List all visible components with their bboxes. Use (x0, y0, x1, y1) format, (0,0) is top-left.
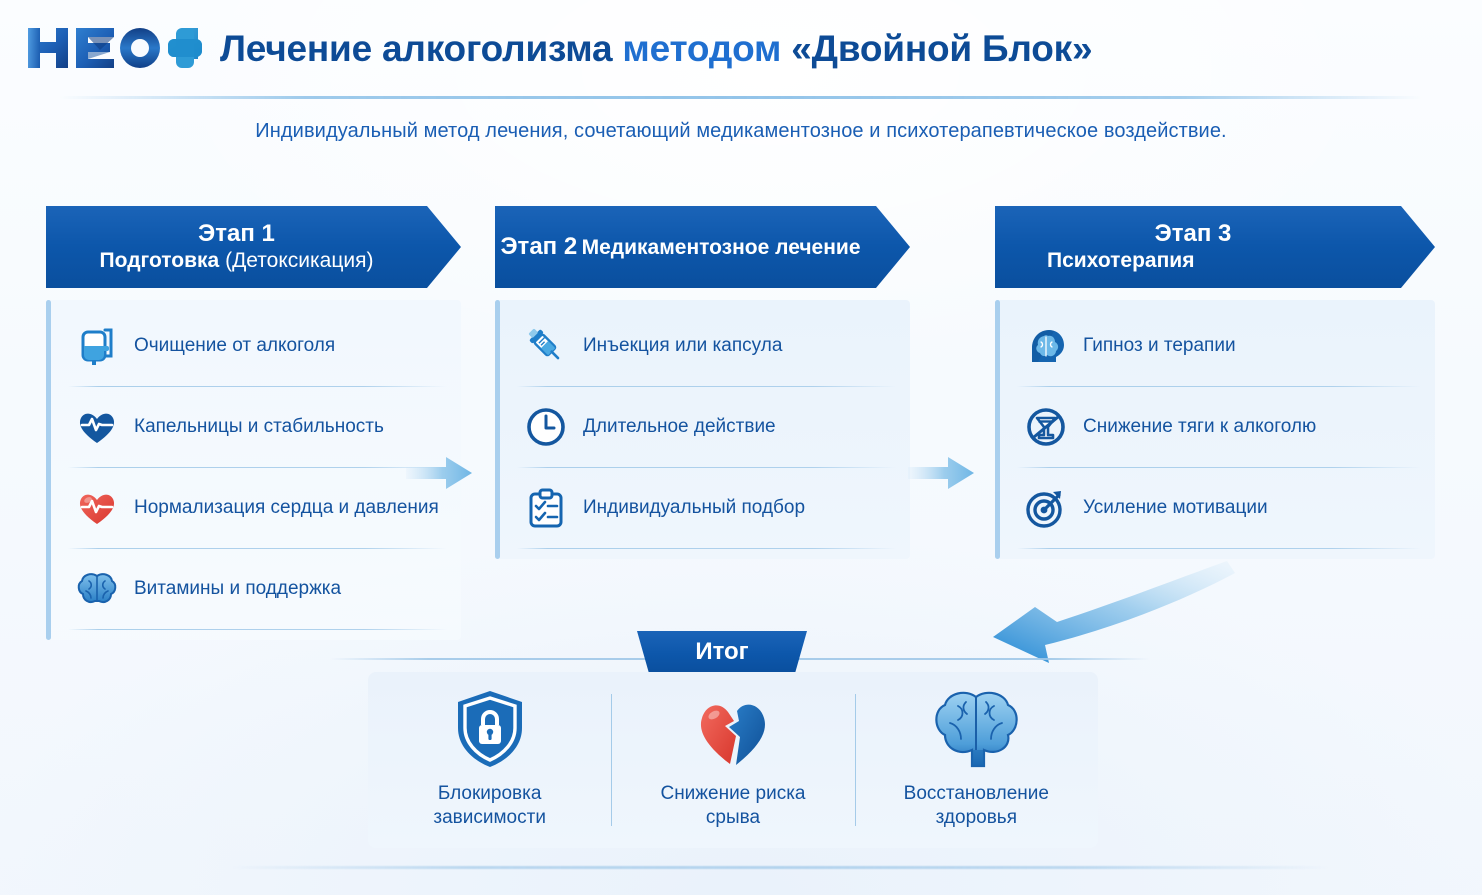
list-item[interactable]: Гипноз и терапии (995, 306, 1435, 386)
title-part-1: Лечение алкоголизма (220, 28, 612, 69)
result-separator (855, 694, 856, 826)
list-item-label: Нормализация сердца и давления (134, 497, 439, 520)
stage-1-name: Подготовка (Детоксикация) (100, 249, 374, 273)
clock-icon (517, 405, 575, 449)
list-item[interactable]: Индивидуальный подбор (495, 468, 910, 548)
bottom-divider (230, 866, 1330, 869)
list-item[interactable]: Очищение от алкоголя (46, 306, 461, 386)
infographic-page: Лечение алкоголизма методом «Двойной Бло… (0, 0, 1482, 895)
broken-heart-icon (692, 690, 774, 770)
result-label-line2: здоровья (936, 807, 1017, 828)
result-item[interactable]: Блокировка зависимости (368, 672, 611, 848)
list-item-label: Гипноз и терапии (1083, 335, 1236, 358)
page-title: Лечение алкоголизма методом «Двойной Бло… (220, 30, 1092, 67)
neo-plus-logo (26, 18, 202, 78)
arrow-right-icon (908, 453, 978, 493)
stage-1-number: Этап 1 (198, 221, 275, 248)
page-subtitle: Индивидуальный метод лечения, сочетающий… (0, 120, 1482, 143)
result-banner[interactable]: Итог (637, 631, 807, 673)
list-item-label: Инъекция или капсула (583, 335, 782, 358)
list-item-label: Длительное действие (583, 416, 776, 439)
stage-column-3: Этап 3 Психотерапия (995, 206, 1435, 559)
target-arrow-icon (1017, 486, 1075, 530)
arrow-right-icon (406, 453, 476, 493)
curved-arrow-left-icon (965, 545, 1295, 675)
result-box: Блокировка зависимости (368, 672, 1098, 848)
result-item-label: Блокировка зависимости (433, 782, 546, 830)
list-item-label: Капельницы и стабильность (134, 416, 384, 439)
divider (517, 548, 896, 549)
list-item[interactable]: Витамины и поддержка (46, 549, 461, 629)
syringe-icon (517, 324, 575, 368)
list-item-label: Очищение от алкоголя (134, 335, 335, 358)
list-item-label: Усиление мотивации (1083, 497, 1268, 520)
stage-2-banner[interactable]: Этап 2 Медикаментозное лечение (495, 206, 910, 288)
result-item-label: Восстановление здоровья (904, 782, 1049, 830)
list-item[interactable]: Инъекция или капсула (495, 306, 910, 386)
list-item-label: Снижение тяги к алкоголю (1083, 416, 1316, 439)
result-item[interactable]: Восстановление здоровья (855, 672, 1098, 848)
clipboard-checklist-icon (517, 486, 575, 530)
heart-pulse-red-icon (68, 486, 126, 530)
brain-icon (928, 690, 1024, 770)
result-label-line2: срыва (706, 807, 760, 828)
divider (68, 629, 447, 630)
list-item[interactable]: Снижение тяги к алкоголю (995, 387, 1435, 467)
iv-drip-bag-icon (68, 324, 126, 368)
stage-2-number: Этап 2 (500, 233, 577, 260)
result-label-line1: Блокировка (438, 783, 542, 804)
stage-3-name: Психотерапия (1047, 249, 1401, 273)
stage-1-card: Очищение от алкоголя Капельницы и стабил… (46, 300, 461, 640)
stage-column-2: Этап 2 Медикаментозное лечение (495, 206, 910, 559)
brain-icon (68, 567, 126, 611)
header-divider (60, 96, 1422, 99)
list-item[interactable]: Усиление мотивации (995, 468, 1435, 548)
stage-2-accent-bar (495, 300, 500, 559)
title-part-2: методом (622, 28, 781, 69)
no-alcohol-glass-icon (1017, 405, 1075, 449)
result-label-line1: Восстановление (904, 783, 1049, 804)
result-label-line1: Снижение риска (660, 783, 805, 804)
stage-3-number: Этап 3 (1047, 221, 1401, 248)
head-brain-icon (1017, 324, 1075, 368)
stage-column-1: Этап 1 Подготовка (Детоксикация) (46, 206, 461, 640)
heart-pulse-blue-icon (68, 405, 126, 449)
clock-list-item[interactable]: Длительное действие (495, 387, 910, 467)
result-item-label: Снижение риска срыва (660, 782, 805, 830)
result-label-line2: зависимости (433, 807, 546, 828)
stage-3-name-bold: Психотерапия (1047, 249, 1194, 272)
stage-1-name-thin: (Детоксикация) (225, 249, 373, 272)
stage-2-name: Медикаментозное лечение (582, 236, 861, 259)
shield-lock-icon (452, 690, 528, 770)
stage-1-name-bold: Подготовка (100, 249, 220, 272)
result-item[interactable]: Снижение риска срыва (611, 672, 854, 848)
list-item-label: Витамины и поддержка (134, 578, 341, 601)
stage-3-banner[interactable]: Этап 3 Психотерапия (995, 206, 1435, 288)
stage-1-banner[interactable]: Этап 1 Подготовка (Детоксикация) (46, 206, 461, 288)
stage-1-accent-bar (46, 300, 51, 640)
list-item[interactable]: Капельницы и стабильность (46, 387, 461, 467)
title-part-3: «Двойной Блок» (791, 28, 1092, 69)
list-item-label: Индивидуальный подбор (583, 497, 805, 520)
stage-3-accent-bar (995, 300, 1000, 559)
stage-2-card: Инъекция или капсула Длительное действие (495, 300, 910, 559)
list-item[interactable]: Нормализация сердца и давления (46, 468, 461, 548)
stage-3-card: Гипноз и терапии Снижение тяги к алкогол… (995, 300, 1435, 559)
stage-2-name-bold: Медикаментозное лечение (582, 236, 861, 259)
result-separator (611, 694, 612, 826)
page-header: Лечение алкоголизма методом «Двойной Бло… (0, 0, 1482, 96)
